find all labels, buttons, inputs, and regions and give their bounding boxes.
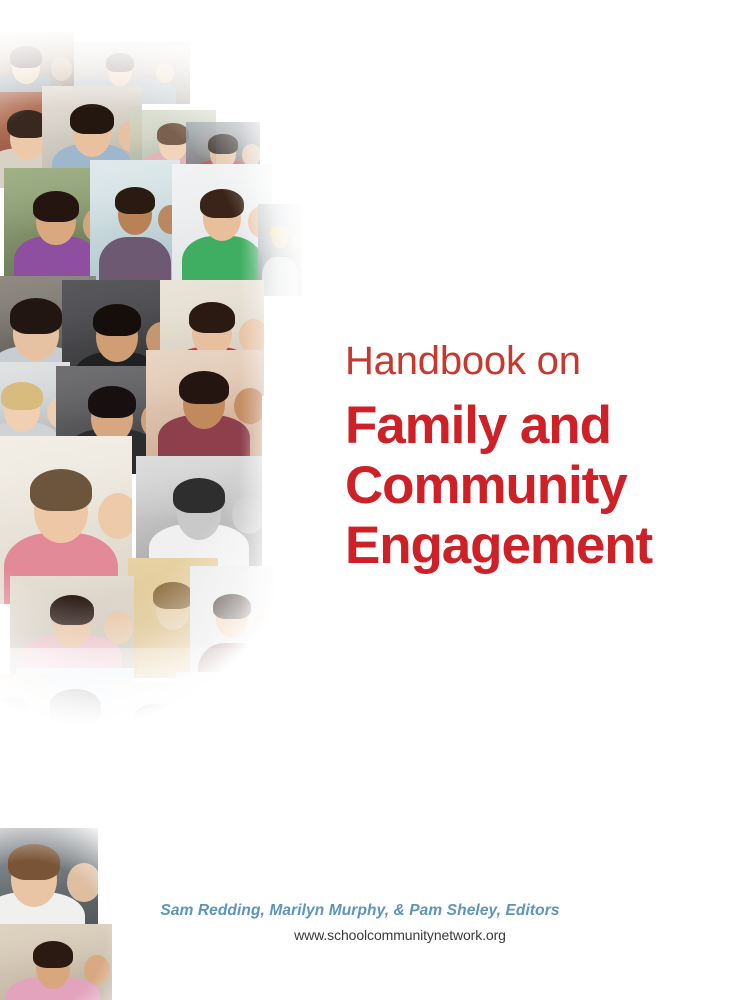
collage-photo-two-children-close-up — [146, 350, 262, 462]
collage-photo-child-at-art-table — [0, 674, 50, 784]
photo-secondary-face — [84, 955, 110, 985]
collage-photo-children-reading-on-couch — [10, 576, 134, 678]
photo-subject-hair — [33, 941, 74, 968]
photo-subject-hair — [200, 189, 244, 219]
photo-subject-hair — [157, 123, 189, 144]
photo-subject-hair — [30, 469, 93, 511]
photo-secondary-face — [104, 611, 133, 644]
collage-photo-smiling-schoolgirl-portrait — [90, 160, 180, 292]
title-line-2: Community — [345, 456, 725, 516]
photo-subject-hair — [208, 134, 237, 154]
title-line-3: Engagement — [345, 516, 725, 576]
photo-secondary-face — [231, 705, 248, 728]
photo-subject-hair — [270, 225, 289, 238]
collage-photo-girl-with-headscarf — [258, 204, 302, 296]
photo-subject-hair — [106, 53, 133, 71]
website-url: www.schoolcommunitynetwork.org — [0, 927, 738, 943]
photo-subject-hair — [115, 187, 155, 214]
photo-subject-hair — [33, 191, 79, 222]
photo-subject-hair — [50, 595, 95, 625]
photo-collage-main — [0, 18, 310, 808]
photo-subject-hair — [213, 594, 250, 619]
photo-subject-hair — [10, 298, 63, 334]
photo-subject-torso — [0, 738, 42, 784]
photo-subject-hair — [70, 104, 114, 134]
collage-photo-mother-hugging-daughter — [172, 164, 272, 288]
photo-subject-hair — [196, 691, 228, 712]
photo-secondary-face — [31, 711, 50, 736]
photo-subject-hair — [88, 386, 136, 418]
photo-subject-torso — [183, 728, 241, 768]
photo-subject-hair — [189, 302, 235, 333]
title-line-1: Family and — [345, 396, 725, 456]
photo-secondary-face — [254, 611, 274, 638]
photo-secondary-face — [232, 496, 262, 534]
photo-subject-hair — [10, 46, 43, 68]
photo-secondary-face — [98, 493, 132, 539]
photo-subject-hair — [134, 704, 172, 729]
collage-photo-student-in-purple-shirt — [176, 672, 248, 768]
photo-subject-hair — [179, 371, 228, 404]
editors-line: Sam Redding, Marilyn Murphy, & Pam Shele… — [0, 902, 738, 920]
photo-subject-torso — [262, 257, 297, 296]
photo-subject-hair — [153, 582, 193, 609]
photo-secondary-face — [239, 319, 264, 353]
photo-secondary-face — [67, 863, 98, 902]
photo-subject-hair — [93, 304, 141, 337]
title-block: Handbook on Family and Community Engagem… — [345, 340, 725, 576]
photo-subject-hair — [1, 382, 43, 410]
title-kicker: Handbook on — [345, 340, 725, 382]
photo-subject-hair — [0, 697, 28, 720]
photo-secondary-face — [234, 388, 262, 424]
collage-photo-black-and-white-family-portrait — [136, 456, 262, 574]
book-cover: Handbook on Family and Community Engagem… — [0, 0, 738, 1000]
photo-secondary-face — [291, 235, 302, 249]
photo-secondary-face — [242, 144, 260, 165]
photo-secondary-face — [156, 63, 173, 83]
photo-subject-hair — [8, 844, 61, 880]
photo-subject-hair — [173, 478, 225, 513]
photo-subject-hair — [49, 689, 100, 723]
